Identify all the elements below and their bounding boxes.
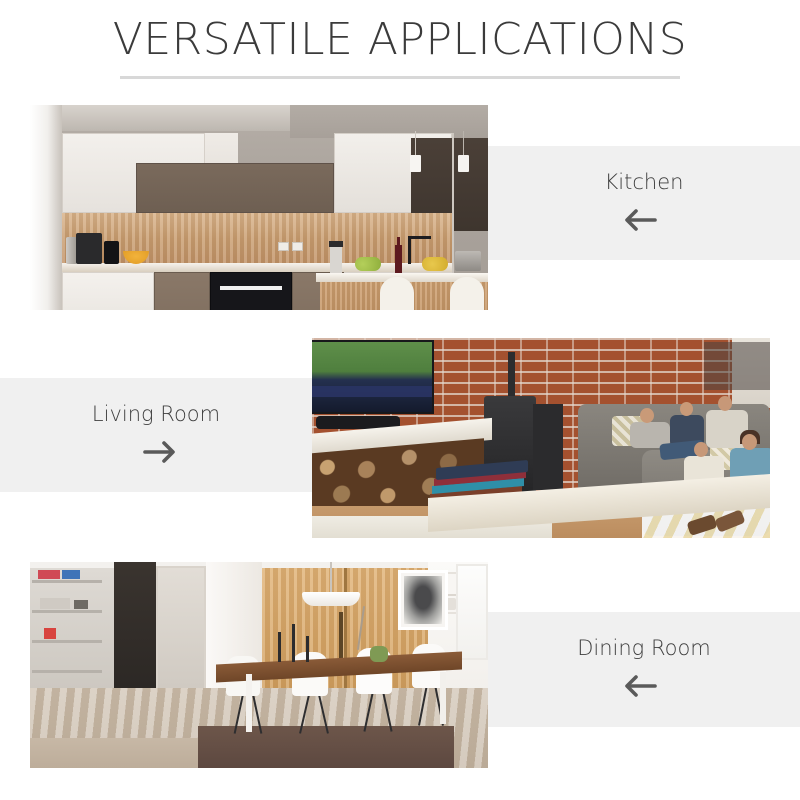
header: VERSATILE APPLICATIONS — [0, 0, 800, 96]
living-room-label: Living Room — [92, 402, 220, 426]
living-room-photo — [312, 338, 770, 538]
kitchen-label-panel: Kitchen — [488, 146, 800, 260]
arrow-left-icon — [622, 674, 666, 703]
kitchen-photo — [30, 105, 488, 310]
title-divider — [120, 76, 680, 79]
arrow-right-icon — [134, 440, 178, 469]
dining-room-photo — [30, 562, 488, 768]
dining-room-label-panel: Dining Room — [488, 612, 800, 727]
living-room-label-panel: Living Room — [0, 378, 312, 492]
dining-room-label: Dining Room — [577, 636, 711, 660]
arrow-left-icon — [622, 208, 666, 237]
kitchen-label: Kitchen — [605, 170, 684, 194]
page-title: VERSATILE APPLICATIONS — [0, 14, 800, 65]
